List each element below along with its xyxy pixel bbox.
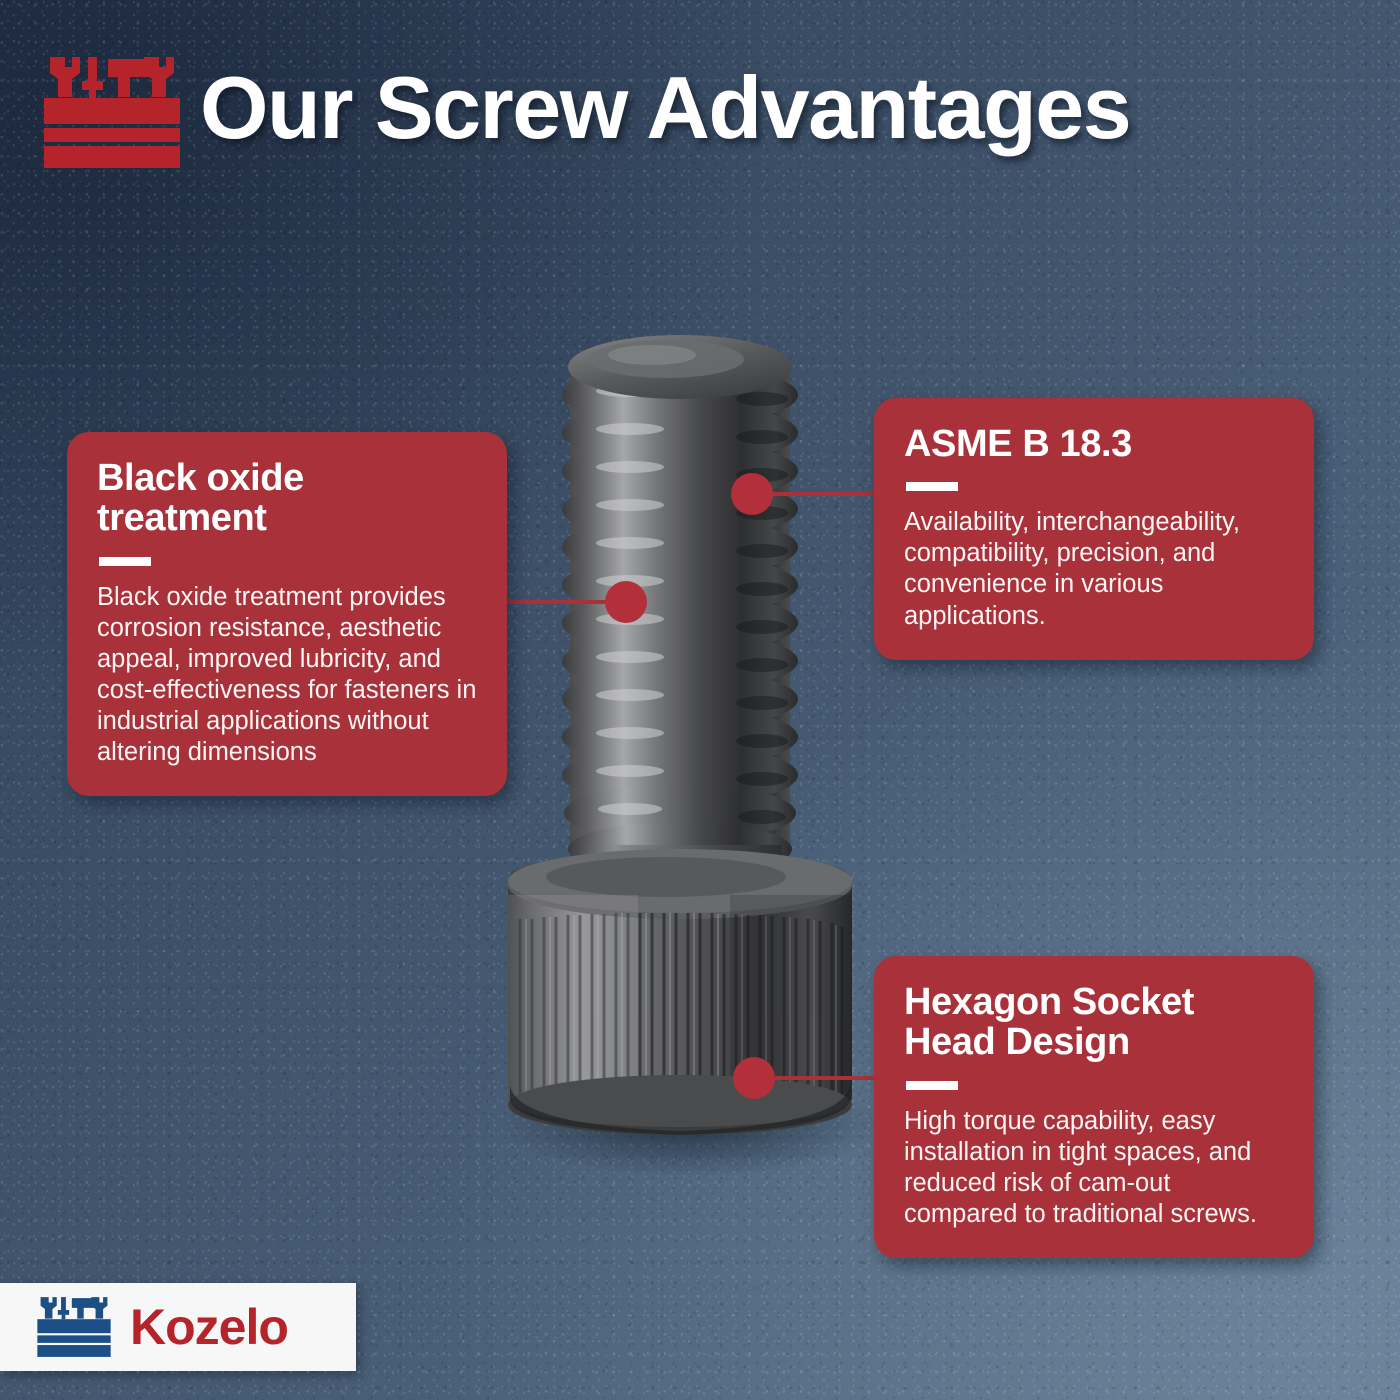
callout-divider	[906, 482, 958, 491]
infographic-canvas: Our Screw Advantages	[0, 0, 1400, 1400]
callout-body: Black oxide treatment provides corrosion…	[97, 582, 477, 769]
toolbox-icon	[42, 55, 182, 170]
callout-body: High torque capability, easy installatio…	[904, 1106, 1284, 1230]
callout-body: Availability, interchangeability, compat…	[904, 507, 1284, 631]
header: Our Screw Advantages	[0, 0, 1400, 205]
callout-divider	[99, 557, 151, 566]
callout-title: Black oxide treatment	[97, 458, 477, 539]
callout-title: Hexagon Socket Head Design	[904, 982, 1284, 1063]
toolbox-icon	[36, 1296, 112, 1358]
brand-logo-bar[interactable]: Kozelo	[0, 1283, 356, 1371]
callout-card-black-oxide[interactable]: Black oxide treatment Black oxide treatm…	[67, 432, 507, 796]
brand-name: Kozelo	[130, 1302, 288, 1352]
connector-dot-hexagon-socket	[733, 1057, 775, 1099]
connector-dot-asme	[731, 473, 773, 515]
callout-card-asme[interactable]: ASME B 18.3 Availability, interchangeabi…	[874, 398, 1314, 660]
callout-card-hexagon-socket[interactable]: Hexagon Socket Head Design High torque c…	[874, 956, 1314, 1258]
connector-dot-black-oxide	[605, 581, 647, 623]
callout-divider	[906, 1081, 958, 1090]
callout-title: ASME B 18.3	[904, 424, 1284, 464]
screw-product-image	[480, 325, 880, 1185]
page-title: Our Screw Advantages	[200, 57, 1130, 159]
